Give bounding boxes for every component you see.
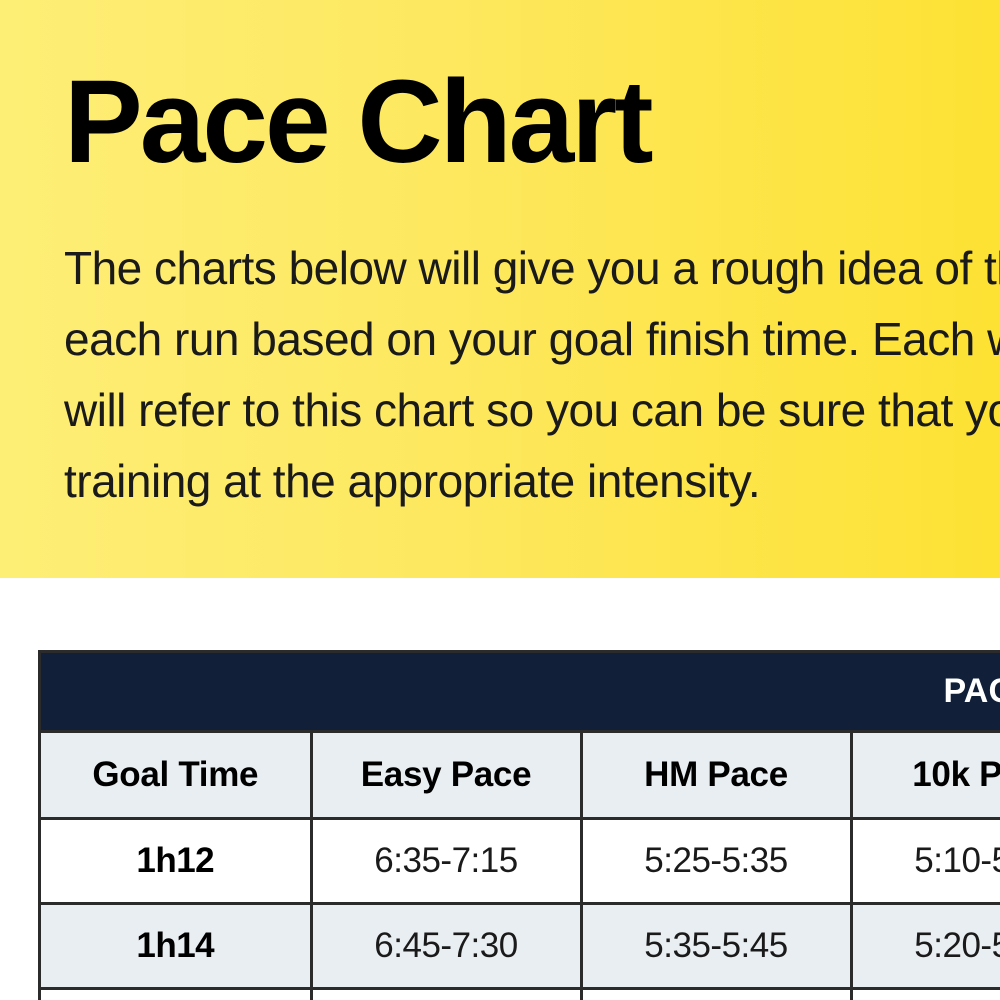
cell-easy-pace: 6:55-7:40: [311, 989, 581, 1000]
page-root: Pace Chart The charts below will give yo…: [0, 0, 1000, 1000]
cell-10k-pace: 5:20-5:30: [851, 904, 1000, 989]
page-title: Pace Chart: [64, 63, 651, 181]
table-header-row: Goal Time Easy Pace HM Pace 10k Pace 5k …: [41, 732, 1000, 819]
hero-banner: Pace Chart The charts below will give yo…: [0, 0, 1000, 578]
hero-description: The charts below will give you a rough i…: [64, 233, 1000, 517]
table-row: 1h14 6:45-7:30 5:35-5:45 5:20-5:30 5:05-…: [41, 904, 1000, 989]
cell-goal-time: 1h14: [41, 904, 311, 989]
column-header-10k-pace: 10k Pace: [851, 732, 1000, 819]
cell-goal-time: 1h12: [41, 819, 311, 904]
pace-table-container: PACING (min/mile) Goal Time Easy Pace HM…: [38, 650, 1000, 1000]
cell-10k-pace: 5:10-5:20: [851, 819, 1000, 904]
cell-hm-pace: 5:25-5:35: [581, 819, 851, 904]
cell-goal-time: 1h16: [41, 989, 311, 1000]
cell-hm-pace: 5:45-5:55: [581, 989, 851, 1000]
column-header-hm-pace: HM Pace: [581, 732, 851, 819]
pacing-band-label: PACING (min/mile): [41, 653, 1000, 732]
column-header-goal-time: Goal Time: [41, 732, 311, 819]
cell-easy-pace: 6:35-7:15: [311, 819, 581, 904]
cell-easy-pace: 6:45-7:30: [311, 904, 581, 989]
table-row: 1h12 6:35-7:15 5:25-5:35 5:10-5:20 4:55-…: [41, 819, 1000, 904]
table-band-row: PACING (min/mile): [41, 653, 1000, 732]
column-header-easy-pace: Easy Pace: [311, 732, 581, 819]
pace-table: PACING (min/mile) Goal Time Easy Pace HM…: [41, 653, 1000, 1000]
cell-10k-pace: 5:30-5:40: [851, 989, 1000, 1000]
table-row: 1h16 6:55-7:40 5:45-5:55 5:30-5:40 5:15-…: [41, 989, 1000, 1000]
cell-hm-pace: 5:35-5:45: [581, 904, 851, 989]
